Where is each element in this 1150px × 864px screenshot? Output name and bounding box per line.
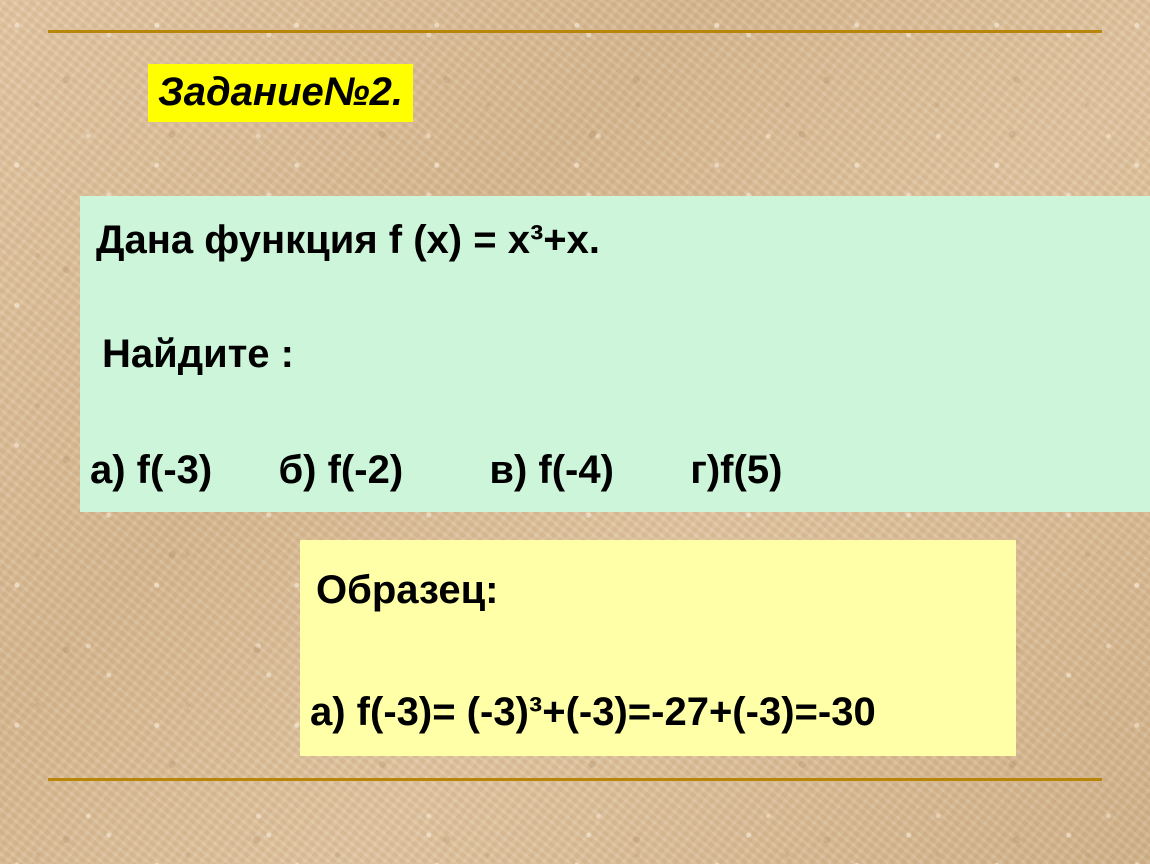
task-item-g: г)f(5) <box>690 448 782 492</box>
sample-panel: Образец: а) f(-3)= (-3)³+(-3)=-27+(-3)=-… <box>300 540 1016 756</box>
sample-heading: Образец: <box>316 568 499 612</box>
bottom-divider-rule <box>48 778 1102 781</box>
top-divider-rule <box>48 30 1102 33</box>
slide: Задание№2. Дана функция f (x) = x³+x. На… <box>0 0 1150 864</box>
task-function-definition: Дана функция f (x) = x³+x. <box>96 218 600 262</box>
task-item-a: а) f(-3) <box>90 448 212 492</box>
page-title: Задание№2. <box>158 70 403 114</box>
task-item-b: б) f(-2) <box>278 448 403 492</box>
title-highlight-band: Задание№2. <box>148 64 413 122</box>
task-item-v: в) f(-4) <box>489 448 614 492</box>
task-panel: Дана функция f (x) = x³+x. Найдите : а) … <box>80 196 1150 512</box>
task-instruction: Найдите : <box>102 332 294 376</box>
task-items-row: а) f(-3) б) f(-2) в) f(-4) г)f(5) <box>90 448 782 492</box>
sample-solution: а) f(-3)= (-3)³+(-3)=-27+(-3)=-30 <box>310 690 876 734</box>
